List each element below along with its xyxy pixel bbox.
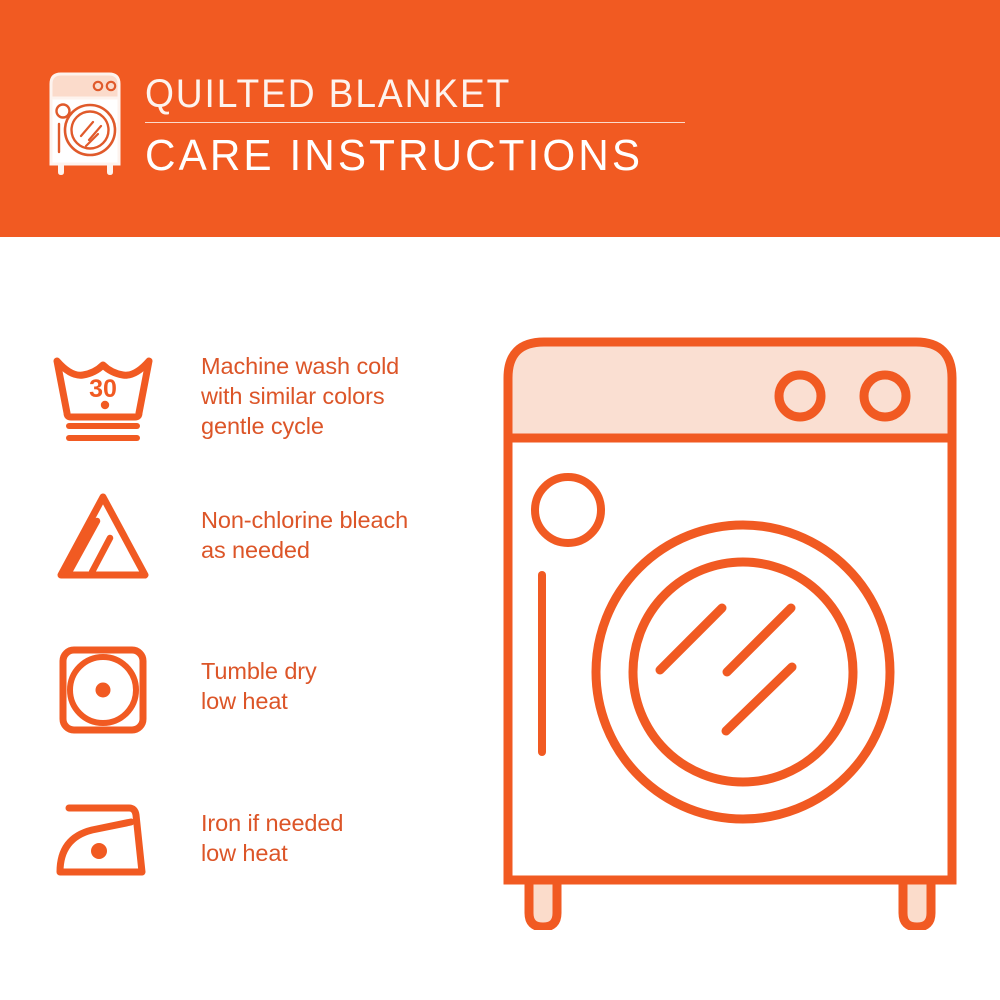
care-item-iron: Iron if needed low heat: [0, 792, 500, 892]
wash-temperature-label: 30: [89, 375, 117, 403]
tumble-dry-icon: [47, 642, 159, 742]
care-item-machine-wash: 30 Machine wash cold with similar colors…: [0, 347, 500, 447]
wash-basin-30-icon: 30: [47, 347, 159, 447]
leg-right: [903, 880, 931, 927]
header-title-group: QUILTED BLANKET CARE INSTRUCTIONS: [145, 72, 705, 180]
care-instructions-page: QUILTED BLANKET CARE INSTRUCTIONS 30 Mac…: [0, 0, 1000, 1000]
title-divider: [145, 122, 685, 123]
care-item-text: Non-chlorine bleach as needed: [201, 487, 408, 565]
care-item-text: Machine wash cold with similar colors ge…: [201, 347, 399, 441]
control-panel: [508, 342, 952, 438]
care-item-bleach: Non-chlorine bleach as needed: [0, 487, 500, 587]
washing-machine-icon: [45, 68, 127, 176]
care-item-tumble-dry: Tumble dry low heat: [0, 642, 500, 742]
care-item-text: Tumble dry low heat: [201, 642, 317, 716]
care-item-text: Iron if needed low heat: [201, 792, 343, 868]
bleach-triangle-icon: [47, 487, 159, 587]
header-banner: QUILTED BLANKET CARE INSTRUCTIONS: [0, 0, 1000, 237]
leg-left: [529, 880, 557, 927]
iron-icon: [47, 792, 159, 892]
page-title-secondary: CARE INSTRUCTIONS: [145, 132, 683, 180]
page-title-primary: QUILTED BLANKET: [145, 72, 666, 116]
care-instruction-list: 30 Machine wash cold with similar colors…: [0, 237, 500, 1000]
washing-machine-illustration: [495, 330, 965, 930]
